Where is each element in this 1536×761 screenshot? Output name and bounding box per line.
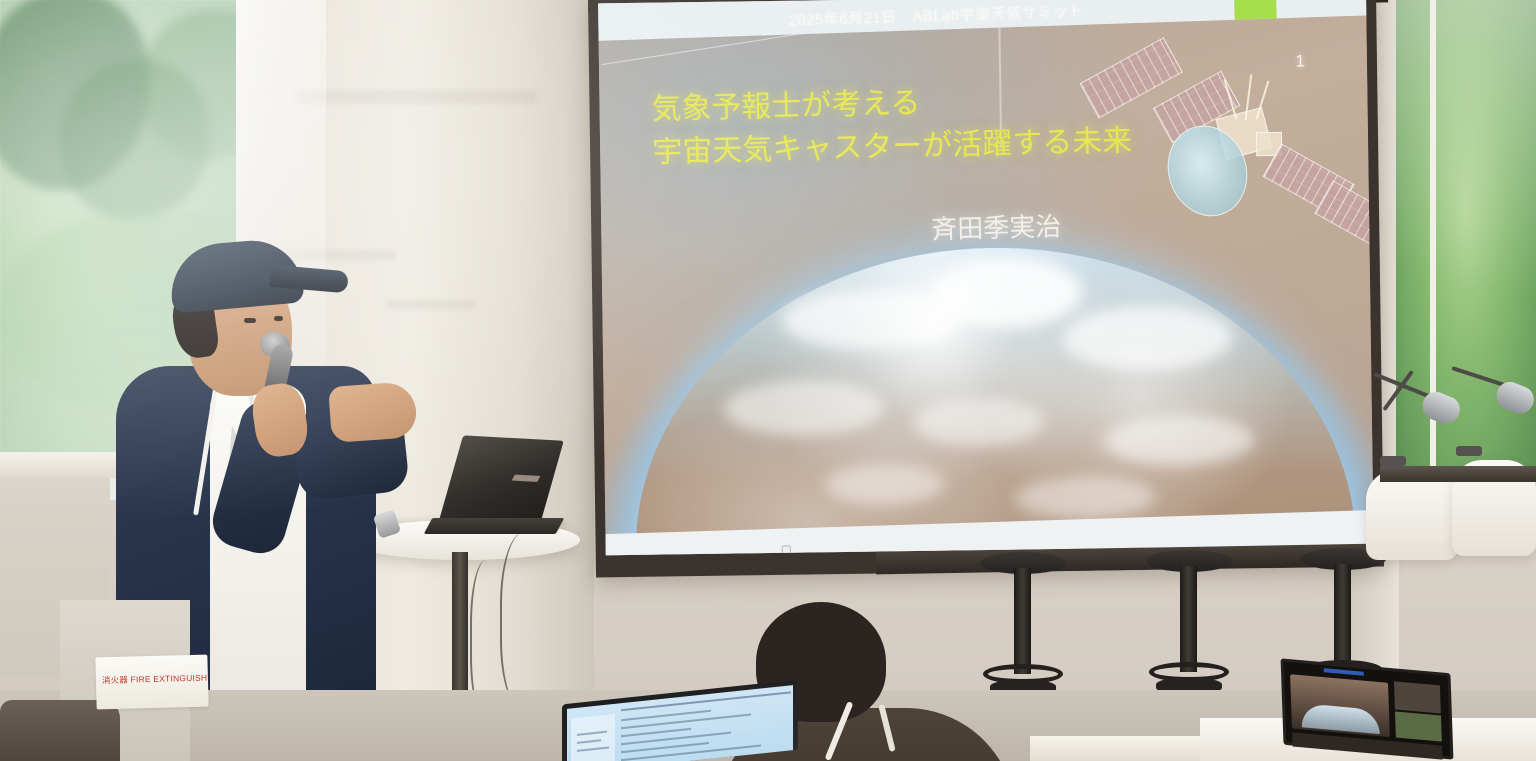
slide-title-line2: 宇宙天気キャスターが活躍する未来 <box>652 120 1133 174</box>
fire-extinguisher-label: 消火器 FIRE EXTINGUISHER <box>102 671 209 686</box>
white-chair <box>1366 470 1458 560</box>
slide-author: 斉田季実治 <box>931 206 1062 246</box>
presenter-laptop <box>428 438 558 534</box>
laptop-screen-presenter-view <box>1281 658 1454 759</box>
wristwatch <box>373 509 401 539</box>
slide-page-number: 1 <box>1295 52 1305 72</box>
slide-accent-block <box>1233 0 1277 20</box>
foreground-laptop <box>562 692 802 761</box>
presentation-room-scene: 2025年6月21日 ABLab宇宙天気サミット 1 気象予報士が考える 宇宙天… <box>0 0 1536 761</box>
laptop-logo <box>512 475 541 482</box>
slide-footer-mark-icon <box>782 545 791 555</box>
right-laptop <box>1282 666 1462 761</box>
slide-content: 2025年6月21日 ABLab宇宙天気サミット 1 気象予報士が考える 宇宙天… <box>598 0 1374 555</box>
fire-extinguisher-sign: 消火器 FIRE EXTINGUISHER <box>95 655 208 710</box>
projection-screen: 2025年6月21日 ABLab宇宙天気サミット 1 気象予報士が考える 宇宙天… <box>588 0 1384 577</box>
window-sill <box>0 452 120 478</box>
laptop-screen-document <box>567 685 793 761</box>
screen-surface: 2025年6月21日 ABLab宇宙天気サミット 1 気象予報士が考える 宇宙天… <box>598 0 1374 555</box>
desk-right <box>1380 466 1536 482</box>
presenter-hand-right <box>328 381 418 443</box>
slide-title: 気象予報士が考える 宇宙天気キャスターが活躍する未来 <box>651 77 1133 174</box>
slide-title-line1: 気象予報士が考える <box>651 87 921 127</box>
